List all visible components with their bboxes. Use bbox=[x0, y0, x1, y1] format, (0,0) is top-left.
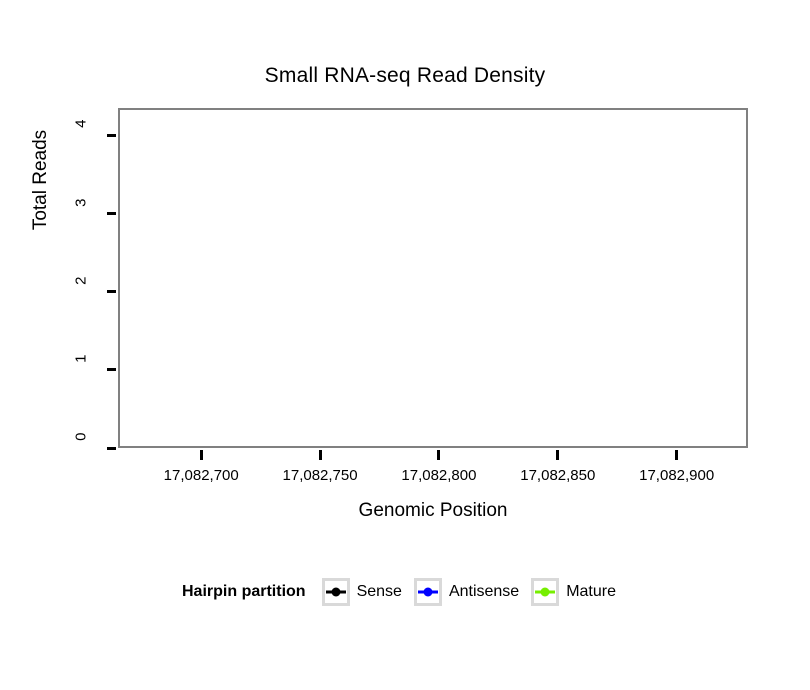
y-axis-tick-label: 1 bbox=[73, 354, 90, 384]
x-axis-tick-label: 17,082,700 bbox=[136, 467, 266, 484]
x-axis-tick-mark bbox=[319, 450, 322, 460]
x-axis-tick-mark bbox=[200, 450, 203, 460]
x-axis-tick-label: 17,082,750 bbox=[255, 467, 385, 484]
x-axis-tick-label: 17,082,900 bbox=[612, 467, 742, 484]
y-axis-tick-mark bbox=[107, 212, 116, 215]
y-axis-tick-mark bbox=[107, 447, 116, 450]
y-axis-tick-mark bbox=[107, 134, 116, 137]
chart-figure: Small RNA-seq Read Density Total Reads 0… bbox=[0, 0, 810, 690]
y-axis-tick-label: 0 bbox=[73, 433, 90, 463]
x-axis-tick-mark bbox=[556, 450, 559, 460]
legend-label: Sense bbox=[357, 583, 402, 601]
legend-key-mature bbox=[531, 578, 559, 606]
legend-item-antisense[interactable]: Antisense bbox=[414, 578, 519, 606]
chart-title: Small RNA-seq Read Density bbox=[0, 64, 810, 88]
legend-key-antisense bbox=[414, 578, 442, 606]
legend-key-dot bbox=[331, 588, 340, 597]
legend-items: SenseAntisenseMature bbox=[322, 578, 628, 606]
x-axis-tick-mark bbox=[675, 450, 678, 460]
x-axis-tick-label: 17,082,850 bbox=[493, 467, 623, 484]
x-axis-tick-mark bbox=[437, 450, 440, 460]
y-axis-tick-mark bbox=[107, 290, 116, 293]
y-axis-tick-label: 4 bbox=[73, 120, 90, 150]
legend-title: Hairpin partition bbox=[182, 583, 306, 601]
legend-item-mature[interactable]: Mature bbox=[531, 578, 616, 606]
legend-key-dot bbox=[541, 588, 550, 597]
legend-key-sense bbox=[322, 578, 350, 606]
legend-item-sense[interactable]: Sense bbox=[322, 578, 402, 606]
chart-legend: Hairpin partition SenseAntisenseMature bbox=[0, 578, 810, 606]
x-axis-tick-label: 17,082,800 bbox=[374, 467, 504, 484]
y-axis-tick-label: 2 bbox=[73, 276, 90, 306]
y-axis-label: Total Reads bbox=[30, 0, 52, 180]
legend-key-dot bbox=[423, 588, 432, 597]
y-axis-tick-mark bbox=[107, 368, 116, 371]
plot-panel bbox=[118, 108, 748, 448]
x-axis-label: Genomic Position bbox=[118, 500, 748, 522]
panel-border bbox=[118, 108, 748, 448]
y-axis-tick-label: 3 bbox=[73, 198, 90, 228]
legend-label: Mature bbox=[566, 583, 616, 601]
y-axis-label-text: Total Reads bbox=[30, 80, 52, 280]
legend-label: Antisense bbox=[449, 583, 519, 601]
